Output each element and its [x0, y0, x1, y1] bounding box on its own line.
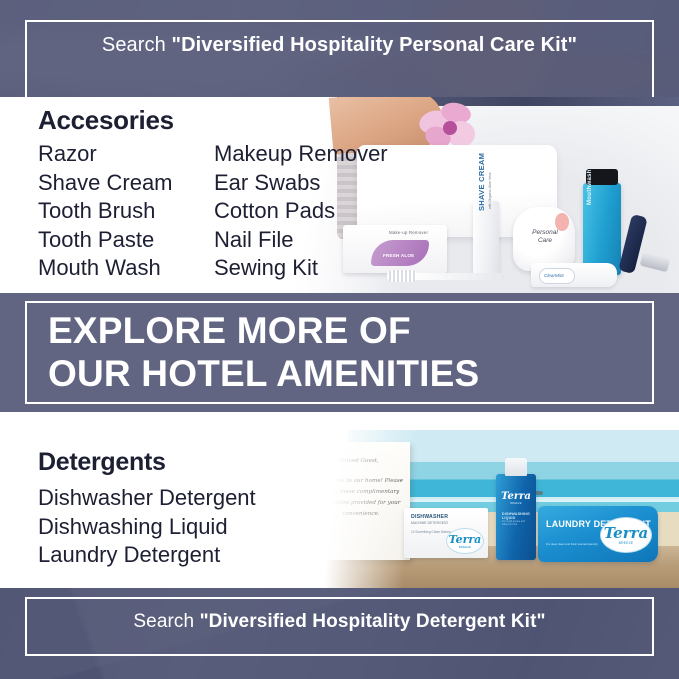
- toothbrush: [387, 269, 505, 283]
- accessories-section: Make-up Remover FRESH ALOE SHAVE CREAM w…: [0, 97, 679, 293]
- list-item: Shave Cream: [38, 169, 173, 198]
- personal-care-label: Personal Care: [525, 229, 565, 244]
- toothpaste-tube: ClearMint: [531, 263, 617, 287]
- detergents-list: Dishwasher Detergent Dishwashing Liquid …: [38, 484, 256, 570]
- shave-cream-sublabel: with Organic Aloe Vera: [488, 153, 492, 209]
- bottom-banner-text: Search "Diversified Hospitality Detergen…: [0, 611, 679, 633]
- sachet-label: Make-up Remover: [389, 230, 428, 235]
- bottom-banner-prefix: Search: [133, 611, 199, 632]
- list-item: Ear Swabs: [214, 169, 388, 198]
- toothpaste-label: ClearMint: [544, 273, 564, 278]
- toothbrush-bristles: [387, 270, 417, 282]
- infographic-canvas: Search "Diversified Hospitality Personal…: [0, 0, 679, 679]
- explore-more-banner: EXPLORE MORE OF OUR HOTEL AMENITIES: [0, 293, 679, 412]
- accessories-heading: Accesories: [38, 105, 174, 136]
- list-item: Cotton Pads: [214, 197, 388, 226]
- top-search-banner: Search "Diversified Hospitality Personal…: [0, 0, 679, 97]
- bottom-search-banner: Search "Diversified Hospitality Detergen…: [0, 588, 679, 679]
- razor-head: [640, 252, 671, 272]
- personal-care-bar: Personal Care: [513, 207, 575, 271]
- detergents-section: Dear Valued Guest, Welcome to our home! …: [0, 412, 679, 588]
- list-item: Dishwasher Detergent: [38, 484, 256, 513]
- list-item: Laundry Detergent: [38, 541, 256, 570]
- list-item: Sewing Kit: [214, 254, 388, 283]
- top-banner-prefix: Search: [102, 34, 172, 56]
- toothpaste-logo: ClearMint: [539, 268, 575, 284]
- top-banner-query: "Diversified Hospitality Personal Care K…: [172, 34, 578, 56]
- list-item: Makeup Remover: [214, 140, 388, 169]
- top-banner-text: Search "Diversified Hospitality Personal…: [0, 34, 679, 57]
- shave-cream-tube: SHAVE CREAM with Organic Aloe Vera: [473, 201, 499, 275]
- mouthwash-label: Mouthwash: [587, 141, 593, 205]
- mouthwash-bottle: Mouthwash: [583, 183, 621, 275]
- razor: [621, 215, 675, 277]
- bottom-banner-query: "Diversified Hospitality Detergent Kit": [200, 611, 546, 632]
- shave-cream-label: SHAVE CREAM: [477, 155, 486, 211]
- accessories-list-column-2: Makeup Remover Ear Swabs Cotton Pads Nai…: [214, 140, 388, 283]
- detergents-heading: Detergents: [38, 448, 166, 477]
- photo-soft-fade: [300, 412, 679, 588]
- detergent-kit-photo: Dear Valued Guest, Welcome to our home! …: [300, 412, 679, 588]
- sachet-brand: FRESH ALOE: [383, 253, 414, 258]
- list-item: Tooth Brush: [38, 197, 173, 226]
- list-item: Mouth Wash: [38, 254, 173, 283]
- explore-more-headline: EXPLORE MORE OF OUR HOTEL AMENITIES: [48, 309, 479, 396]
- bottom-banner-tint: [0, 588, 679, 679]
- accessories-list-column-1: Razor Shave Cream Tooth Brush Tooth Past…: [38, 140, 173, 283]
- list-item: Nail File: [214, 226, 388, 255]
- orchid-flower-icon: [417, 103, 479, 151]
- list-item: Tooth Paste: [38, 226, 173, 255]
- list-item: Razor: [38, 140, 173, 169]
- toothbrush-handle: [411, 273, 505, 280]
- list-item: Dishwashing Liquid: [38, 513, 256, 542]
